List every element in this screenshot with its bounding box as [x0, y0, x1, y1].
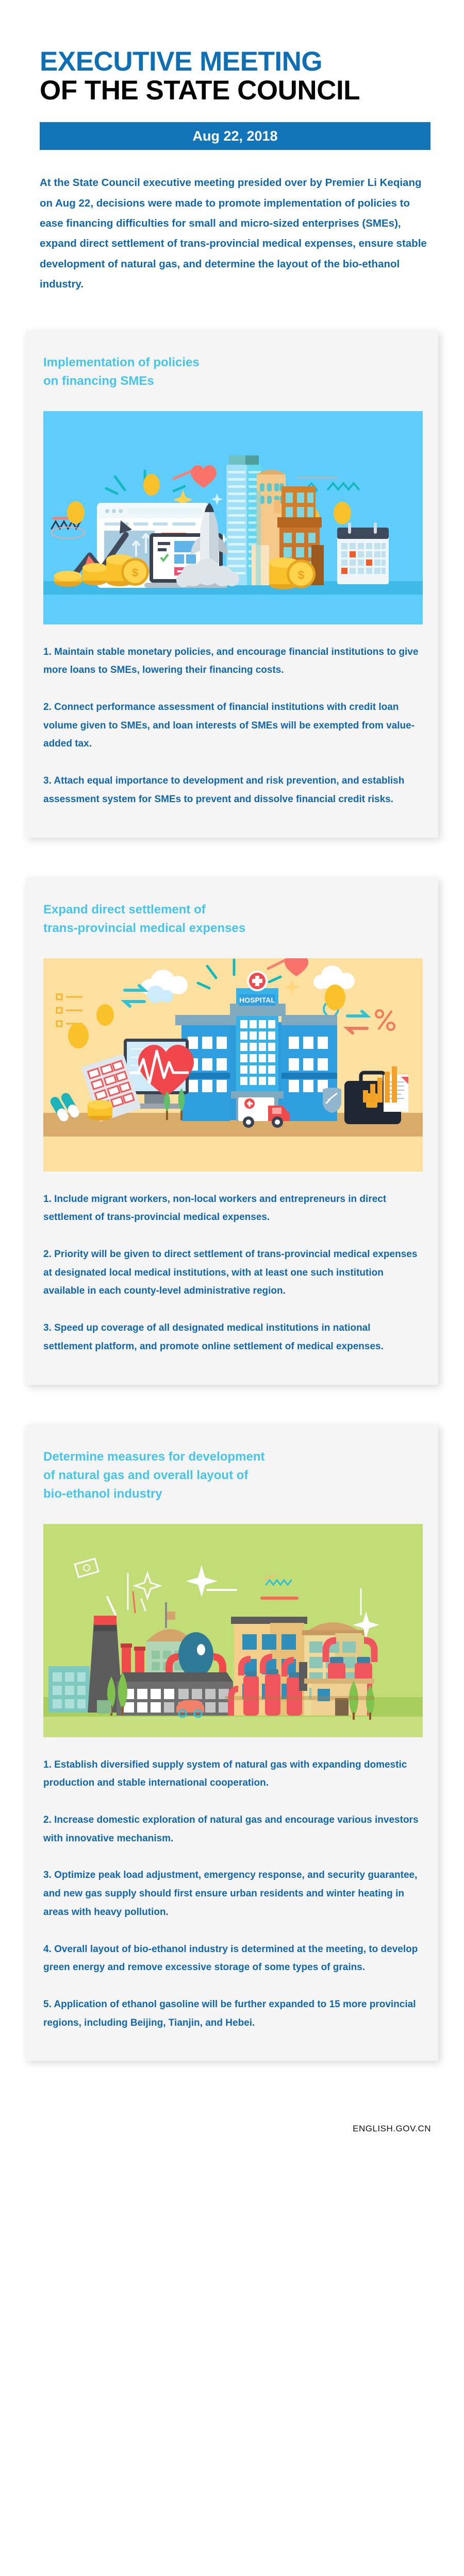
page-title-line-2: OF THE STATE COUNCIL	[40, 76, 464, 105]
page-header: EXECUTIVE MEETING OF THE STATE COUNCIL A…	[0, 0, 464, 295]
card-medical-settlement: Expand direct settlement oftrans-provinc…	[26, 878, 438, 1385]
source-attribution: ENGLISH.GOV.CN	[353, 2124, 431, 2133]
card-title-line: on financing SMEs	[43, 372, 438, 391]
card-title: Implementation of policieson financing S…	[26, 331, 438, 411]
page-footer: ENGLISH.GOV.CN	[0, 2101, 464, 2162]
svg-text:$: $	[298, 568, 305, 582]
intro-paragraph: At the State Council executive meeting p…	[40, 173, 432, 294]
hospital-medical-illustration: HOSPITAL	[43, 958, 423, 1172]
card-sme-financing: Implementation of policieson financing S…	[26, 331, 438, 838]
card-point: 1. Include migrant workers, non-local wo…	[43, 1190, 420, 1227]
card-title-line: Expand direct settlement of	[43, 901, 438, 919]
card-list: Implementation of policieson financing S…	[0, 331, 464, 2061]
card-title-line: of natural gas and overall layout of	[43, 1466, 438, 1485]
card-title: Determine measures for developmentof nat…	[26, 1425, 438, 1524]
card-points: 1. Maintain stable monetary policies, an…	[26, 624, 438, 838]
infographic-page: EXECUTIVE MEETING OF THE STATE COUNCIL A…	[0, 0, 464, 2576]
card-title-line: trans-provincial medical expenses	[43, 919, 438, 938]
card-title-line: Implementation of policies	[43, 353, 438, 372]
card-point: 2. Increase domestic exploration of natu…	[43, 1811, 420, 1848]
card-point: 4. Overall layout of bio-ethanol industr…	[43, 1940, 420, 1977]
gas-plant-industry-illustration	[43, 1524, 423, 1737]
sme-financing-illustration: $	[43, 411, 423, 624]
card-point: 1. Establish diversified supply system o…	[43, 1756, 420, 1792]
card-natural-gas-bioethanol: Determine measures for developmentof nat…	[26, 1425, 438, 2061]
card-point: 3. Optimize peak load adjustment, emerge…	[43, 1866, 420, 1921]
date-banner: Aug 22, 2018	[40, 122, 430, 150]
page-title-line-1: EXECUTIVE MEETING	[40, 47, 464, 76]
card-point: 3. Attach equal importance to developmen…	[43, 772, 420, 808]
card-point: 3. Speed up coverage of all designated m…	[43, 1319, 420, 1355]
card-point: 5. Application of ethanol gasoline will …	[43, 1995, 420, 2032]
card-point: 2. Connect performance assessment of fin…	[43, 698, 420, 753]
hospital-sign-label: HOSPITAL	[239, 996, 275, 1004]
date-text: Aug 22, 2018	[192, 128, 277, 144]
card-title: Expand direct settlement oftrans-provinc…	[26, 878, 438, 958]
card-points: 1. Establish diversified supply system o…	[26, 1737, 438, 2061]
card-title-line: Determine measures for development	[43, 1448, 438, 1466]
card-point: 2. Priority will be given to direct sett…	[43, 1245, 420, 1300]
card-point: 1. Maintain stable monetary policies, an…	[43, 643, 420, 680]
svg-text:$: $	[132, 566, 138, 579]
card-title-line: bio-ethanol industry	[43, 1485, 438, 1503]
card-points: 1. Include migrant workers, non-local wo…	[26, 1172, 438, 1385]
